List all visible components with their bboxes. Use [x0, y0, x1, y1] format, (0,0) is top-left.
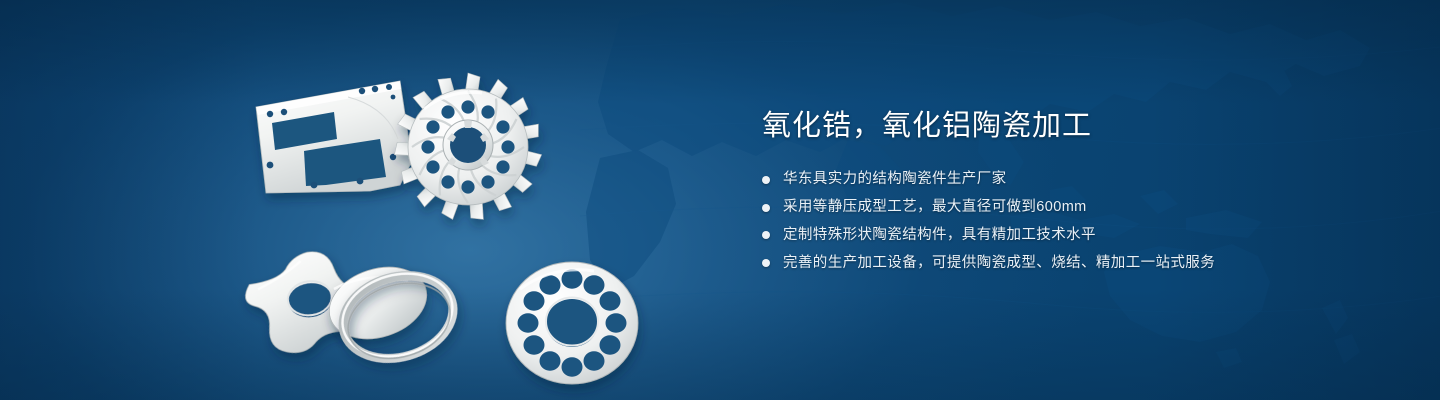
list-item-label: 定制特殊形状陶瓷结构件，具有精加工技术水平: [783, 226, 1096, 245]
bullet-dot-icon: [762, 259, 770, 267]
list-item-label: 完善的生产加工设备，可提供陶瓷成型、烧结、精加工一站式服务: [783, 254, 1215, 273]
list-item: 定制特殊形状陶瓷结构件，具有精加工技术水平: [762, 226, 1402, 245]
ceramic-perforated-disc: [506, 262, 638, 384]
list-item-label: 华东具实力的结构陶瓷件生产厂家: [783, 170, 1007, 189]
list-item: 采用等静压成型工艺，最大直径可做到600mm: [762, 198, 1402, 217]
feature-list: 华东具实力的结构陶瓷件生产厂家 采用等静压成型工艺，最大直径可做到600mm 定…: [762, 170, 1402, 272]
ceramic-plate: [256, 81, 412, 193]
list-item: 完善的生产加工设备，可提供陶瓷成型、烧结、精加工一站式服务: [762, 254, 1402, 273]
bullet-dot-icon: [762, 176, 770, 184]
ceramic-products-image: [230, 35, 700, 375]
list-item-label: 采用等静压成型工艺，最大直径可做到600mm: [783, 198, 1087, 217]
bullet-dot-icon: [762, 231, 770, 239]
list-item: 华东具实力的结构陶瓷件生产厂家: [762, 170, 1402, 189]
ceramic-impeller: [393, 73, 542, 222]
bullet-dot-icon: [762, 204, 770, 212]
ceramic-disc-backing: [320, 255, 436, 351]
banner-copy: 氧化锆，氧化铝陶瓷加工 华东具实力的结构陶瓷件生产厂家 采用等静压成型工艺，最大…: [762, 108, 1402, 273]
hero-banner: 氧化锆，氧化铝陶瓷加工 华东具实力的结构陶瓷件生产厂家 采用等静压成型工艺，最大…: [0, 0, 1440, 400]
page-title: 氧化锆，氧化铝陶瓷加工: [762, 108, 1402, 144]
